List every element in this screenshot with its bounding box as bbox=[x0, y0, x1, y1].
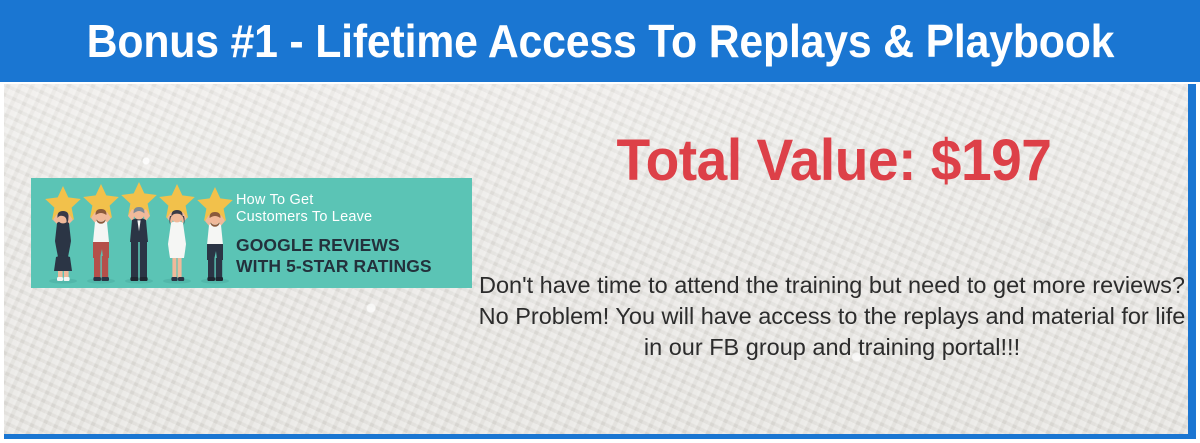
bonus-promo-card: Bonus #1 - Lifetime Access To Replays & … bbox=[0, 0, 1200, 443]
bonus-description-text: Don't have time to attend the training b… bbox=[474, 270, 1190, 363]
thumbnail-bold-line-1: GOOGLE REVIEWS bbox=[236, 235, 468, 256]
thumbnail-text-block: How To Get Customers To Leave GOOGLE REV… bbox=[236, 192, 468, 276]
bonus-header-title: Bonus #1 - Lifetime Access To Replays & … bbox=[86, 17, 1114, 65]
thumbnail-bold-block: GOOGLE REVIEWS WITH 5-STAR RATINGS bbox=[236, 235, 468, 276]
person-3-man-dark-suit bbox=[128, 207, 150, 281]
bonus-body-panel: How To Get Customers To Leave GOOGLE REV… bbox=[4, 84, 1196, 439]
thumbnail-light-line-1: How To Get bbox=[236, 192, 468, 209]
people-stars-svg bbox=[39, 178, 239, 288]
bonus-header-banner: Bonus #1 - Lifetime Access To Replays & … bbox=[0, 0, 1200, 82]
thumbnail-light-line-2: Customers To Leave bbox=[236, 209, 468, 226]
person-2-man-white-shirt-red-pants bbox=[91, 209, 111, 281]
person-1-woman-dark-dress bbox=[53, 211, 73, 281]
thumbnail-bold-line-2: WITH 5-STAR RATINGS bbox=[236, 256, 468, 277]
person-5-man-white-shirt-dark-pants bbox=[205, 212, 225, 281]
total-value-headline: Total Value: $197 bbox=[502, 130, 1167, 192]
people-holding-stars-illustration bbox=[39, 178, 239, 288]
person-4-woman-white-dress bbox=[167, 210, 187, 281]
google-reviews-thumbnail: How To Get Customers To Leave GOOGLE REV… bbox=[31, 178, 472, 288]
